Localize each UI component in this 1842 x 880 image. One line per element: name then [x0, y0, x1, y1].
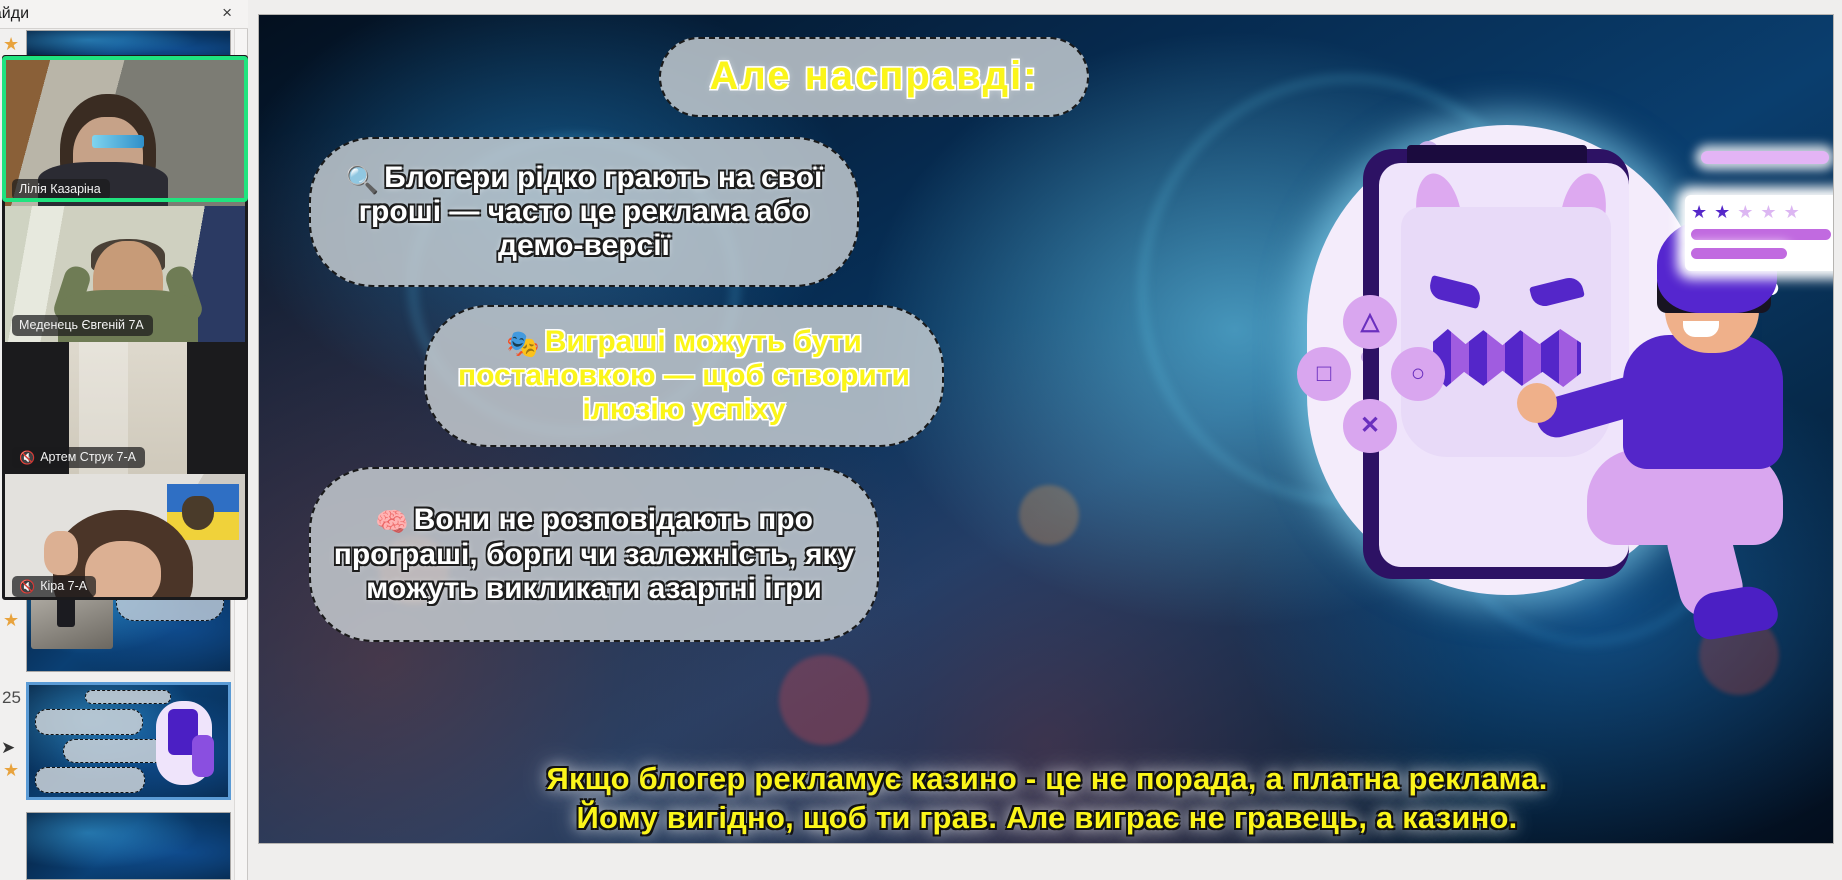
star-icon: ★ [1714, 203, 1730, 221]
mic-off-icon: 🔇 [19, 580, 35, 593]
bullet-text-2: 🎭Виграші можуть бути постановкою — щоб с… [426, 325, 942, 427]
participant-name-badge: Меденець Євгеній 7А [12, 315, 153, 336]
video-participants-strip[interactable]: Лілія Казаріна Меденець Євгеній 7А 🔇 Арт… [2, 55, 248, 600]
gamepad-square-icon: □ [1297, 347, 1351, 401]
star-icon: ★ [3, 610, 19, 631]
star-icon: ★ [1737, 203, 1753, 221]
star-icon: ★ [1691, 203, 1707, 221]
bullet-label-1: Блогери рідко грають на свої гроші — час… [359, 161, 823, 262]
panel-header: Слайди × [0, 0, 248, 29]
bg-bokeh [779, 655, 869, 745]
brain-icon: 🧠 [375, 507, 409, 537]
slide-stage: Але насправді: 🔍Блогери рідко грають на … [248, 0, 1842, 880]
video-tile[interactable]: 🔇 Артем Струк 7-А [5, 342, 248, 474]
vr-player-figure [1561, 217, 1811, 617]
thumbnail-preview[interactable] [26, 812, 231, 880]
participant-name: Артем Струк 7-А [40, 450, 136, 464]
participant-name: Лілія Казаріна [19, 182, 101, 196]
participant-name: Кіра 7-А [40, 579, 87, 593]
bullet-text-1: 🔍Блогери рідко грають на свої гроші — ча… [311, 161, 857, 263]
thumbnail-number: 25 [2, 688, 21, 708]
cursor-icon: ➤ [1, 738, 15, 758]
page-title: Але насправді: [693, 54, 1054, 99]
caption-line-2: Йому вигідно, щоб ти грав. Але виграє не… [259, 799, 1834, 837]
participant-name-badge: 🔇 Кіра 7-А [12, 576, 96, 597]
star-rating-widget: ★ ★ ★ ★ ★ [1691, 203, 1834, 259]
performing-arts-icon: 🎭 [506, 329, 540, 359]
thumbnail-preview[interactable] [26, 682, 231, 800]
slide-caption: Якщо блогер рекламує казино - це не пора… [259, 760, 1834, 837]
bullet-label-3: Вони не розповідають про програші, борги… [334, 503, 855, 604]
participant-name-badge: Лілія Казаріна [12, 179, 110, 200]
close-icon[interactable]: × [222, 4, 232, 22]
player-mouth [1683, 321, 1719, 337]
rating-bar [1691, 229, 1831, 240]
gamepad-circle-icon: ○ [1391, 347, 1445, 401]
video-tile[interactable]: Меденець Євгеній 7А [5, 206, 248, 342]
video-tile[interactable]: 🔇 Кіра 7-А [5, 474, 248, 600]
caption-line-1: Якщо блогер рекламує казино - це не пора… [259, 760, 1834, 798]
ui-bar-accent [1701, 151, 1829, 164]
bullet-bubble-3: 🧠Вони не розповідають про програші, борг… [309, 467, 879, 642]
gamepad-cross-icon: ✕ [1343, 399, 1397, 453]
monster-eye [1427, 275, 1483, 309]
star-icon: ★ [1784, 203, 1800, 221]
gamepad-triangle-icon: △ [1343, 295, 1397, 349]
rating-bar [1691, 248, 1787, 259]
star-icon: ★ [1760, 203, 1776, 221]
bullet-bubble-2: 🎭Виграші можуть бути постановкою — щоб с… [424, 305, 944, 447]
monster-mouth [1433, 329, 1581, 387]
magnifying-glass-icon: 🔍 [346, 165, 380, 195]
video-tile[interactable]: Лілія Казаріна [5, 58, 248, 206]
bg-bokeh [1019, 485, 1079, 545]
participant-name: Меденець Євгеній 7А [19, 318, 144, 332]
presentation-slide[interactable]: Але насправді: 🔍Блогери рідко грають на … [258, 14, 1834, 844]
player-hand [1517, 383, 1557, 423]
bullet-bubble-1: 🔍Блогери рідко грають на свої гроші — ча… [309, 137, 859, 287]
star-icon: ★ [3, 760, 19, 781]
star-icon: ★ [3, 34, 19, 55]
player-torso [1623, 335, 1783, 469]
mic-off-icon: 🔇 [19, 451, 35, 464]
slide-title-bubble: Але насправді: [659, 37, 1089, 117]
gaming-addiction-illustration: △ □ ○ ✕ [1245, 107, 1805, 637]
bullet-text-3: 🧠Вони не розповідають про програші, борг… [311, 503, 877, 605]
panel-title: Слайди [0, 5, 29, 23]
participant-name-badge: 🔇 Артем Струк 7-А [12, 447, 145, 468]
